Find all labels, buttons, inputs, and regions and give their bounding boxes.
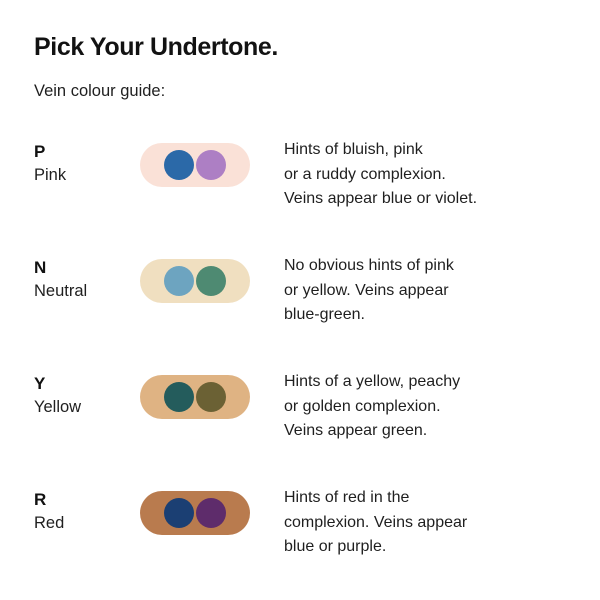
vein-dot-green (196, 266, 226, 296)
description-line: Veins appear blue or violet. (284, 187, 566, 211)
skin-tone-pill (140, 491, 250, 535)
swatch-column (140, 483, 284, 535)
undertone-row-yellow[interactable]: Y Yellow Hints of a yellow, peachy or go… (34, 367, 566, 483)
undertone-name: Yellow (34, 395, 140, 418)
undertone-description: Hints of bluish, pink or a ruddy complex… (284, 135, 566, 211)
description-line: Veins appear green. (284, 419, 566, 443)
description-line: or yellow. Veins appear (284, 279, 566, 303)
undertone-guide-page: Pick Your Undertone. Vein colour guide: … (0, 0, 600, 600)
description-line: or a ruddy complexion. (284, 163, 566, 187)
undertone-row-red[interactable]: R Red Hints of red in the complexion. Ve… (34, 483, 566, 599)
undertone-name: Pink (34, 163, 140, 186)
undertone-name: Red (34, 511, 140, 534)
page-title: Pick Your Undertone. (34, 28, 566, 62)
undertone-description: Hints of a yellow, peachy or golden comp… (284, 367, 566, 443)
undertone-description: Hints of red in the complexion. Veins ap… (284, 483, 566, 559)
row-label-group: P Pink (34, 135, 140, 186)
undertone-code: R (34, 489, 140, 510)
row-label-group: Y Yellow (34, 367, 140, 418)
row-label-group: N Neutral (34, 251, 140, 302)
vein-dot-olive (196, 382, 226, 412)
undertone-code: P (34, 141, 140, 162)
undertone-description: No obvious hints of pink or yellow. Vein… (284, 251, 566, 327)
undertone-name: Neutral (34, 279, 140, 302)
description-line: blue or purple. (284, 535, 566, 559)
undertone-row-list: P Pink Hints of bluish, pink or a ruddy … (34, 135, 566, 599)
vein-dot-blue (164, 266, 194, 296)
swatch-column (140, 367, 284, 419)
description-line: Hints of red in the (284, 486, 566, 510)
description-line: Hints of bluish, pink (284, 138, 566, 162)
description-line: or golden complexion. (284, 395, 566, 419)
swatch-column (140, 135, 284, 187)
description-line: blue-green. (284, 303, 566, 327)
undertone-code: Y (34, 373, 140, 394)
description-line: No obvious hints of pink (284, 254, 566, 278)
skin-tone-pill (140, 375, 250, 419)
undertone-row-pink[interactable]: P Pink Hints of bluish, pink or a ruddy … (34, 135, 566, 251)
row-label-group: R Red (34, 483, 140, 534)
skin-tone-pill (140, 259, 250, 303)
vein-dot-navy (164, 498, 194, 528)
vein-dot-teal (164, 382, 194, 412)
swatch-column (140, 251, 284, 303)
description-line: complexion. Veins appear (284, 511, 566, 535)
vein-dot-blue (164, 150, 194, 180)
undertone-row-neutral[interactable]: N Neutral No obvious hints of pink or ye… (34, 251, 566, 367)
undertone-code: N (34, 257, 140, 278)
description-line: Hints of a yellow, peachy (284, 370, 566, 394)
skin-tone-pill (140, 143, 250, 187)
vein-dot-violet (196, 150, 226, 180)
vein-dot-purple (196, 498, 226, 528)
page-subtitle: Vein colour guide: (34, 62, 566, 102)
